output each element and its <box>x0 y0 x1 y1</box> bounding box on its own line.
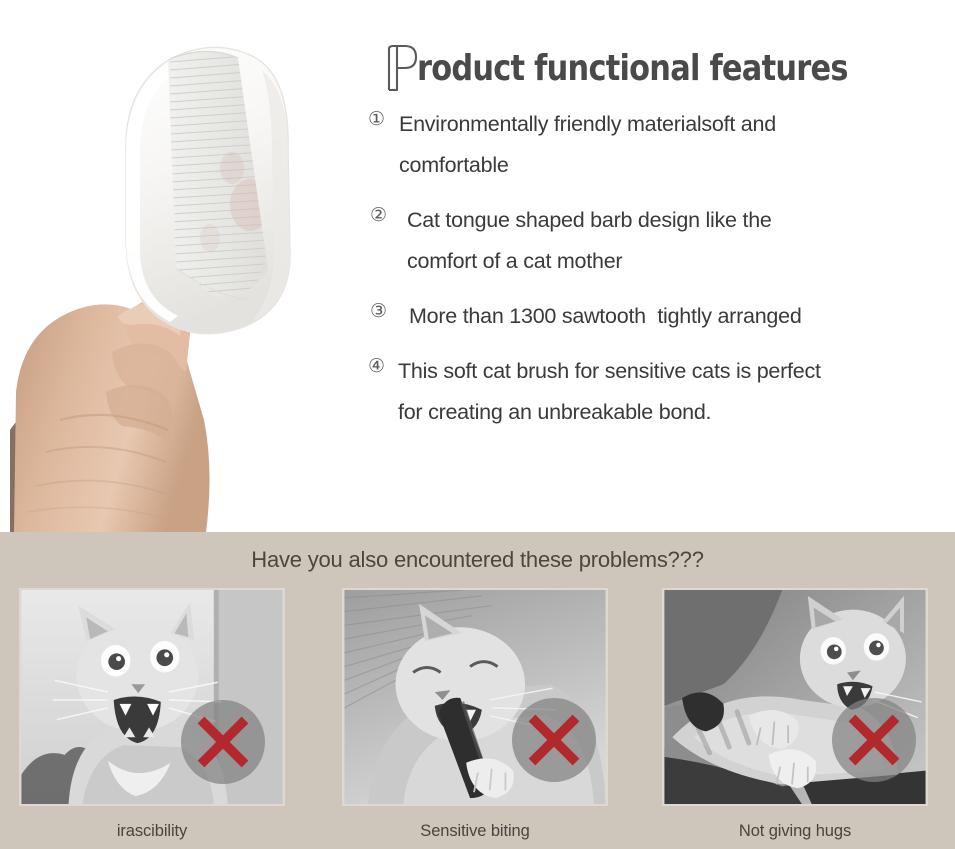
problem-cell: Not giving hugs <box>662 588 928 842</box>
feature-item: ① Environmentally friendly materialsoft … <box>368 104 948 186</box>
feature-item: ③ More than 1300 sawtooth tightly arrang… <box>370 296 948 337</box>
x-mark-badge <box>181 700 265 784</box>
page-title-text: roduct functional features <box>417 49 848 89</box>
feature-panel: roduct functional features ① Environment… <box>360 0 955 532</box>
feature-marker-1: ① <box>368 104 398 134</box>
problem-photo <box>19 588 285 806</box>
features-section: roduct functional features ① Environment… <box>0 0 955 532</box>
problem-caption: irascibility <box>19 820 285 842</box>
problem-cell: irascibility <box>19 588 285 842</box>
feature-marker-4: ④ <box>368 351 398 381</box>
dropcap-p-icon <box>385 44 419 91</box>
problems-section: Have you also encountered these problems… <box>0 532 955 849</box>
feature-item: ④ This soft cat brush for sensitive cats… <box>368 351 948 433</box>
x-mark-badge <box>512 698 596 782</box>
feature-item: ② Cat tongue shaped barb design like the… <box>370 200 948 282</box>
feature-marker-3: ③ <box>370 296 400 326</box>
problems-heading: Have you also encountered these problems… <box>0 545 955 575</box>
page-title: roduct functional features <box>385 33 945 89</box>
feature-text-4: This soft cat brush for sensitive cats i… <box>398 351 948 433</box>
x-mark-badge <box>832 698 916 782</box>
feature-marker-2: ② <box>370 200 400 230</box>
product-photo <box>0 0 356 532</box>
feature-list: ① Environmentally friendly materialsoft … <box>368 104 948 447</box>
problem-photo <box>342 588 608 806</box>
feature-text-1: Environmentally friendly materialsoft an… <box>398 104 948 186</box>
problem-photo <box>662 588 928 806</box>
problem-caption: Not giving hugs <box>662 820 928 842</box>
product-infographic: roduct functional features ① Environment… <box>0 0 955 849</box>
problem-grid: irascibility <box>0 588 955 838</box>
problem-caption: Sensitive biting <box>342 820 608 842</box>
problem-cell: Sensitive biting <box>342 588 608 842</box>
feature-text-3: More than 1300 sawtooth tightly arranged <box>400 296 948 337</box>
feature-text-2: Cat tongue shaped barb design like the c… <box>400 200 948 282</box>
